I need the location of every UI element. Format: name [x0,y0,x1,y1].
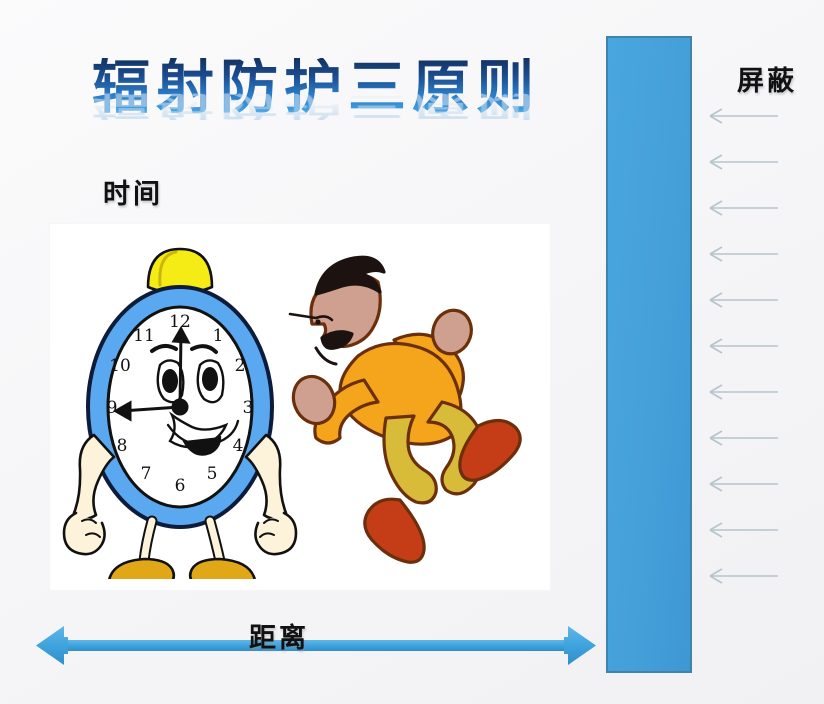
radiation-arrow-group [700,100,780,600]
svg-text:11: 11 [133,326,155,346]
running-man-icon [282,252,542,572]
radiation-arrow [700,246,780,262]
radiation-arrow [700,568,780,584]
slide-title-block: 辐射防护三原则 辐射防护三原则 [92,58,532,168]
svg-text:5: 5 [207,464,218,484]
svg-text:7: 7 [141,464,152,484]
radiation-arrow [700,200,780,216]
radiation-arrow [700,108,780,124]
svg-text:4: 4 [233,436,244,456]
radiation-arrow [700,292,780,308]
shielding-wall [606,36,692,673]
svg-text:1: 1 [213,326,224,346]
svg-text:2: 2 [235,356,246,376]
label-time: 时间 [103,181,163,208]
radiation-arrow [700,476,780,492]
page-title: 辐射防护三原则 [92,58,532,116]
cartoon-alarm-clock-icon: 12 1 2 3 4 5 6 7 8 9 10 11 [60,229,310,579]
radiation-arrow [700,384,780,400]
svg-text:10: 10 [109,356,131,376]
illustration-panel: 12 1 2 3 4 5 6 7 8 9 10 11 [50,224,550,590]
label-shielding: 屏蔽 [737,68,797,95]
distance-double-arrow [28,618,604,674]
svg-text:3: 3 [243,398,254,418]
svg-text:6: 6 [175,476,186,496]
svg-text:9: 9 [107,398,118,418]
radiation-arrow [700,430,780,446]
svg-text:8: 8 [117,436,128,456]
radiation-arrow [700,154,780,170]
radiation-arrow [700,338,780,354]
label-distance: 距离 [249,625,309,652]
radiation-arrow [700,522,780,538]
slide-canvas: 辐射防护三原则 辐射防护三原则 时间 屏蔽 距离 [0,0,824,704]
